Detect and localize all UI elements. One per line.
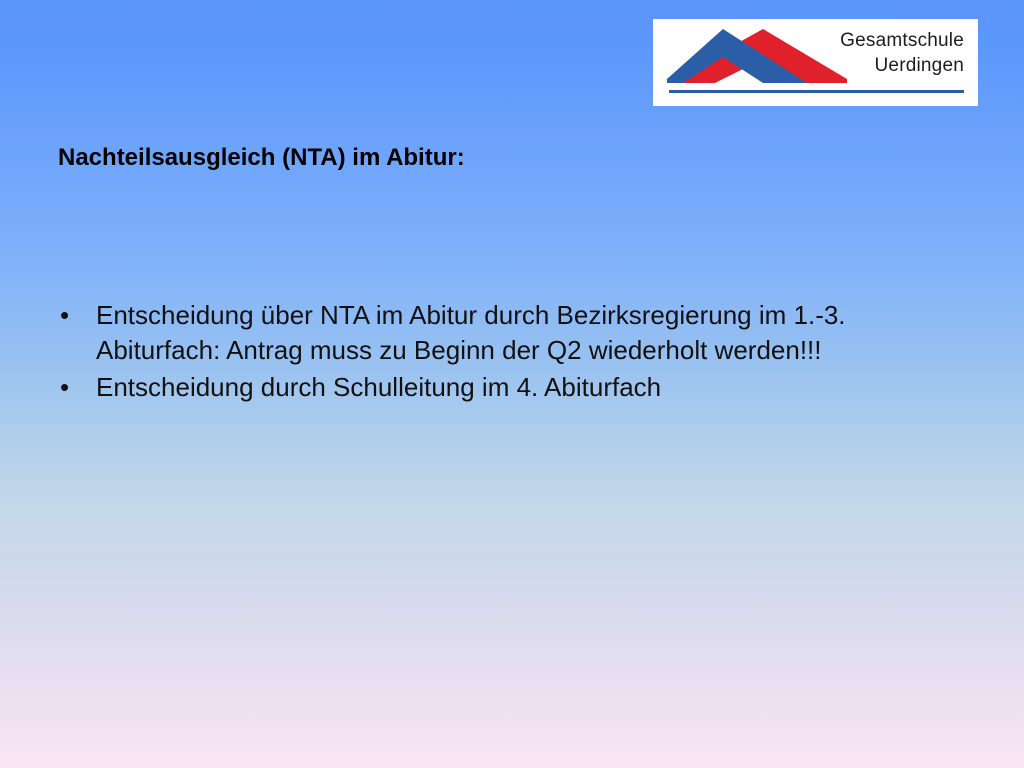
list-item: • Entscheidung über NTA im Abitur durch … xyxy=(56,298,971,368)
school-logo: Gesamtschule Uerdingen xyxy=(653,19,978,106)
logo-divider-line xyxy=(669,90,964,93)
slide-title: Nachteilsausgleich (NTA) im Abitur: xyxy=(58,143,938,173)
bullet-icon: • xyxy=(56,298,96,333)
list-item-text: Entscheidung über NTA im Abitur durch Be… xyxy=(96,298,971,368)
presentation-slide: Gesamtschule Uerdingen Nachteilsausgleic… xyxy=(0,0,1024,768)
logo-wordmark-line2: Uerdingen xyxy=(799,53,964,78)
logo-wordmark: Gesamtschule Uerdingen xyxy=(799,28,964,78)
slide-body-list: • Entscheidung über NTA im Abitur durch … xyxy=(56,298,971,407)
bullet-icon: • xyxy=(56,370,96,405)
list-item-text: Entscheidung durch Schulleitung im 4. Ab… xyxy=(96,370,971,405)
list-item: • Entscheidung durch Schulleitung im 4. … xyxy=(56,370,971,405)
logo-wordmark-line1: Gesamtschule xyxy=(799,28,964,53)
